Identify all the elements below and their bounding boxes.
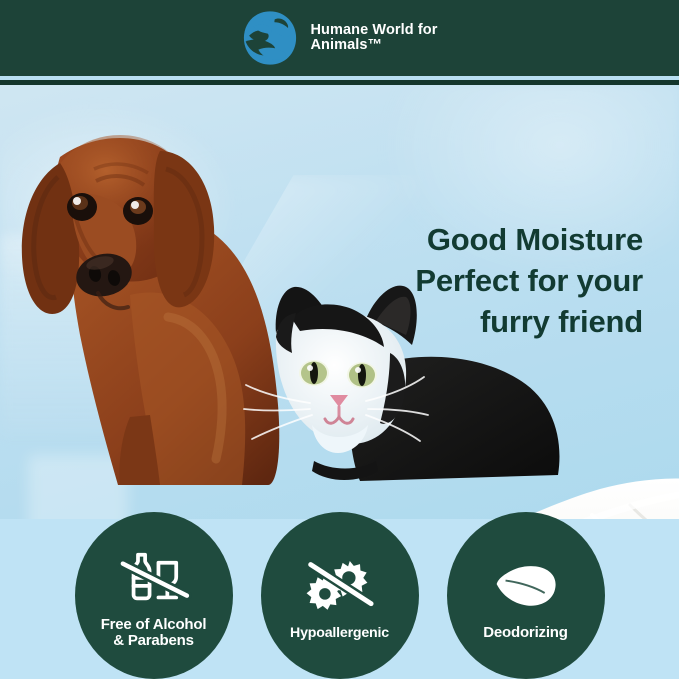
hero-headline: Good Moisture Perfect for your furry fri… — [363, 219, 643, 342]
hero-photo: Good Moisture Perfect for your furry fri… — [0, 85, 679, 519]
header-bottom-rule — [0, 80, 679, 85]
badge-label: Free of Alcohol & Parabens — [101, 617, 207, 650]
brand-lockup: Humane World for Animals™ — [241, 9, 437, 67]
badge-free-of-alcohol-parabens[interactable]: Free of Alcohol & Parabens — [75, 512, 233, 679]
badge-label: Hypoallergenic — [290, 625, 389, 642]
badge-hypoallergenic[interactable]: Hypoallergenic — [261, 512, 419, 679]
headline-line-2: Perfect for your — [363, 260, 643, 301]
no-allergen-virus-icon — [300, 554, 380, 616]
badge-deodorizing[interactable]: Deodorizing — [447, 512, 605, 679]
no-alcohol-bottle-glass-icon — [114, 546, 194, 608]
headline-line-3: furry friend — [363, 301, 643, 342]
feature-badges: Free of Alcohol & Parabens Hypoallergeni… — [0, 512, 679, 679]
leaf-icon — [486, 554, 566, 616]
brand-name: Humane World for Animals™ — [310, 23, 437, 54]
humane-world-globe-logo-icon — [241, 9, 299, 67]
product-infographic: Humane World for Animals™ — [0, 0, 679, 679]
brand-header: Humane World for Animals™ — [0, 0, 679, 76]
headline-line-1: Good Moisture — [363, 219, 643, 260]
badge-label: Deodorizing — [483, 625, 567, 642]
